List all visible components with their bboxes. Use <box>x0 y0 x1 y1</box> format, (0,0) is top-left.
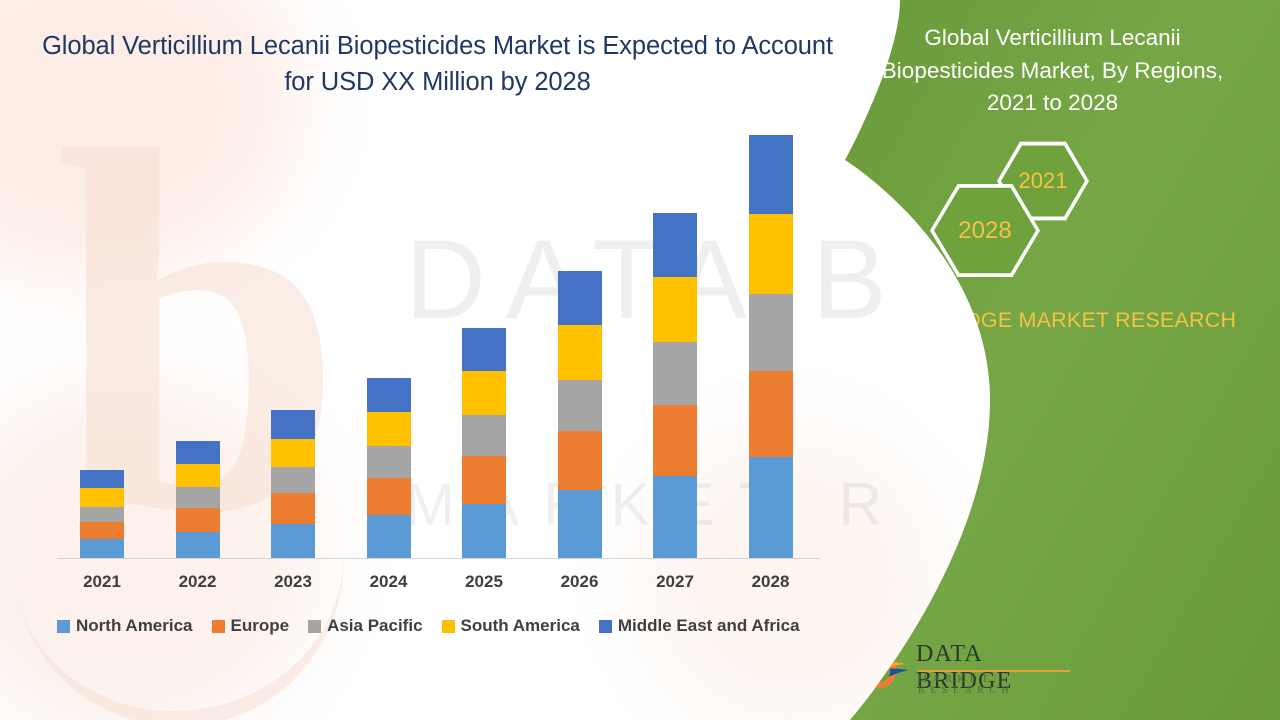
bar-segment <box>462 504 506 558</box>
bar-segment <box>367 478 411 515</box>
bar-segment <box>176 532 220 558</box>
bar-segment <box>367 412 411 446</box>
bar-2023 <box>271 410 315 558</box>
bar-segment <box>653 405 697 476</box>
hexagon-badge-2028-label: 2028 <box>958 217 1011 245</box>
brand-panel: Global Verticillium Lecanii Biopesticide… <box>820 0 1280 720</box>
bar-2025 <box>462 328 506 558</box>
legend-swatch-icon <box>57 620 70 633</box>
bar-segment <box>271 467 315 493</box>
bar-segment <box>462 415 506 457</box>
bar-segment <box>80 507 124 522</box>
bar-segment <box>749 294 793 371</box>
bar-segment <box>462 328 506 371</box>
x-axis-label-2028: 2028 <box>723 572 819 592</box>
company-logo: DATA BRIDGE MARKET RESEARCH <box>840 630 1080 700</box>
legend-swatch-icon <box>308 620 321 633</box>
bar-segment <box>558 325 602 380</box>
slide-canvas: b DATA BRIDGE MARKET RESEARCH Global Ver… <box>0 0 1280 720</box>
x-axis-label-2021: 2021 <box>54 572 150 592</box>
bar-segment <box>749 371 793 458</box>
x-axis-label-2024: 2024 <box>341 572 437 592</box>
bar-segment <box>176 508 220 532</box>
bar-segment <box>462 371 506 415</box>
bar-segment <box>653 213 697 277</box>
bar-2028 <box>749 135 793 558</box>
legend-label: Asia Pacific <box>327 616 422 636</box>
bar-2027 <box>653 213 697 558</box>
chart-legend: North AmericaEuropeAsia PacificSouth Ame… <box>57 616 832 636</box>
bar-segment <box>176 441 220 464</box>
chart-bars-area <box>57 120 820 558</box>
logo-divider <box>918 670 1070 672</box>
legend-item[interactable]: North America <box>57 616 193 636</box>
x-axis-label-2026: 2026 <box>532 572 628 592</box>
bar-segment <box>271 410 315 438</box>
bar-segment <box>80 470 124 488</box>
bar-segment <box>558 380 602 431</box>
bar-segment <box>271 493 315 524</box>
hexagon-badges: 2021 2028 <box>935 145 1185 280</box>
stacked-bar-chart: 20212022202320242025202620272028 <box>0 0 860 720</box>
panel-heading: Global Verticillium Lecanii Biopesticide… <box>860 22 1245 120</box>
bar-segment <box>80 488 124 507</box>
hexagon-badge-2021-label: 2021 <box>1019 168 1068 194</box>
bar-2024 <box>367 378 411 558</box>
chart-axis-line <box>57 558 820 559</box>
bar-segment <box>653 476 697 558</box>
logo-tagline: MARKET RESEARCH <box>918 674 1080 696</box>
legend-swatch-icon <box>599 620 612 633</box>
bar-segment <box>653 342 697 404</box>
bar-segment <box>176 464 220 487</box>
bar-segment <box>367 446 411 478</box>
legend-item[interactable]: Middle East and Africa <box>599 616 800 636</box>
x-axis-label-2022: 2022 <box>150 572 246 592</box>
bar-2021 <box>80 470 124 558</box>
bar-segment <box>558 271 602 325</box>
legend-item[interactable]: Europe <box>212 616 290 636</box>
x-axis-label-2027: 2027 <box>627 572 723 592</box>
bar-2026 <box>558 271 602 558</box>
bar-segment <box>80 522 124 540</box>
legend-item[interactable]: South America <box>442 616 580 636</box>
legend-label: Middle East and Africa <box>618 616 800 636</box>
bar-2022 <box>176 441 220 558</box>
chart-x-axis-labels: 20212022202320242025202620272028 <box>57 572 820 602</box>
bar-segment <box>367 378 411 412</box>
bar-segment <box>176 487 220 508</box>
bar-segment <box>558 431 602 490</box>
x-axis-label-2023: 2023 <box>245 572 341 592</box>
legend-swatch-icon <box>212 620 225 633</box>
bar-segment <box>653 277 697 343</box>
hexagon-badge-2028: 2028 <box>930 182 1040 279</box>
legend-label: South America <box>461 616 580 636</box>
legend-label: North America <box>76 616 193 636</box>
bar-segment <box>749 135 793 214</box>
bar-segment <box>80 539 124 558</box>
legend-swatch-icon <box>442 620 455 633</box>
bar-segment <box>271 524 315 558</box>
bar-segment <box>558 490 602 558</box>
bar-segment <box>462 456 506 504</box>
legend-item[interactable]: Asia Pacific <box>308 616 422 636</box>
bar-segment <box>367 515 411 558</box>
bar-segment <box>749 214 793 294</box>
x-axis-label-2025: 2025 <box>436 572 532 592</box>
bar-segment <box>749 457 793 558</box>
panel-brand-text: DATA BRIDGE MARKET RESEARCH <box>860 305 1245 336</box>
bar-segment <box>271 439 315 467</box>
legend-label: Europe <box>231 616 290 636</box>
